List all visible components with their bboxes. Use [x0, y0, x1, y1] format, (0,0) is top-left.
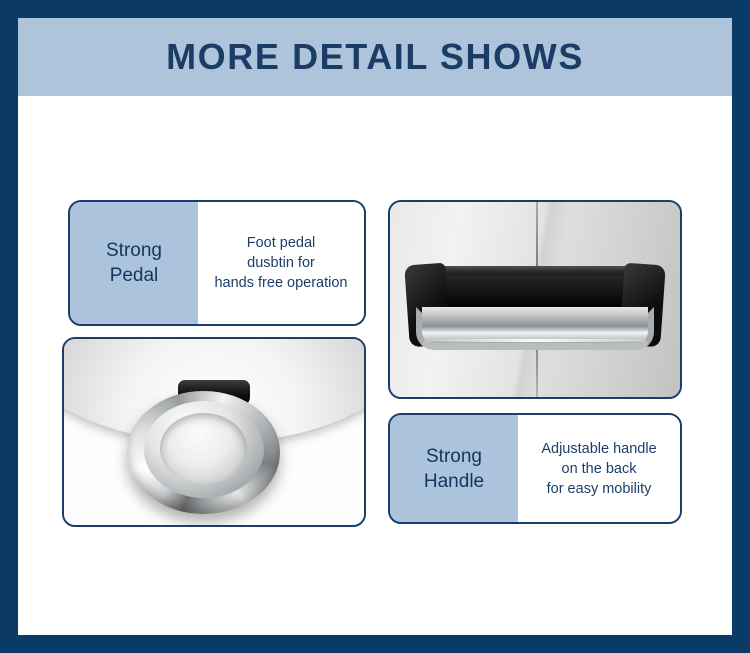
back-handle-photo — [390, 202, 680, 397]
feature-description-panel-strong-handle: Adjustable handle on the back for easy m… — [518, 415, 680, 522]
handle-chrome-highlight — [425, 339, 645, 342]
feature-title-strong-handle: Strong Handle — [424, 444, 484, 494]
feature-title-panel-strong-handle: Strong Handle — [390, 415, 518, 522]
feature-description-panel-strong-pedal: Foot pedal dusbtin for hands free operat… — [198, 202, 364, 324]
feature-card-strong-pedal: Strong Pedal Foot pedal dusbtin for hand… — [68, 200, 366, 326]
feature-description-strong-handle: Adjustable handle on the back for easy m… — [541, 439, 656, 499]
feature-title-strong-pedal: Strong Pedal — [106, 238, 162, 288]
feature-card-strong-handle: Strong Handle Adjustable handle on the b… — [388, 413, 682, 524]
chrome-ring-hole — [160, 413, 247, 484]
page-title: MORE DETAIL SHOWS — [166, 36, 584, 78]
feature-description-strong-pedal: Foot pedal dusbtin for hands free operat… — [214, 233, 347, 293]
feature-title-panel-strong-pedal: Strong Pedal — [70, 202, 198, 324]
feature-photo-card-strong-pedal — [62, 337, 366, 527]
header-banner: MORE DETAIL SHOWS — [18, 18, 732, 96]
feature-photo-card-strong-handle — [388, 200, 682, 399]
handle-chrome-bar — [416, 307, 654, 350]
outer-frame: MORE DETAIL SHOWS Strong Pedal Foot peda… — [0, 0, 750, 653]
foot-pedal-photo — [64, 339, 364, 525]
